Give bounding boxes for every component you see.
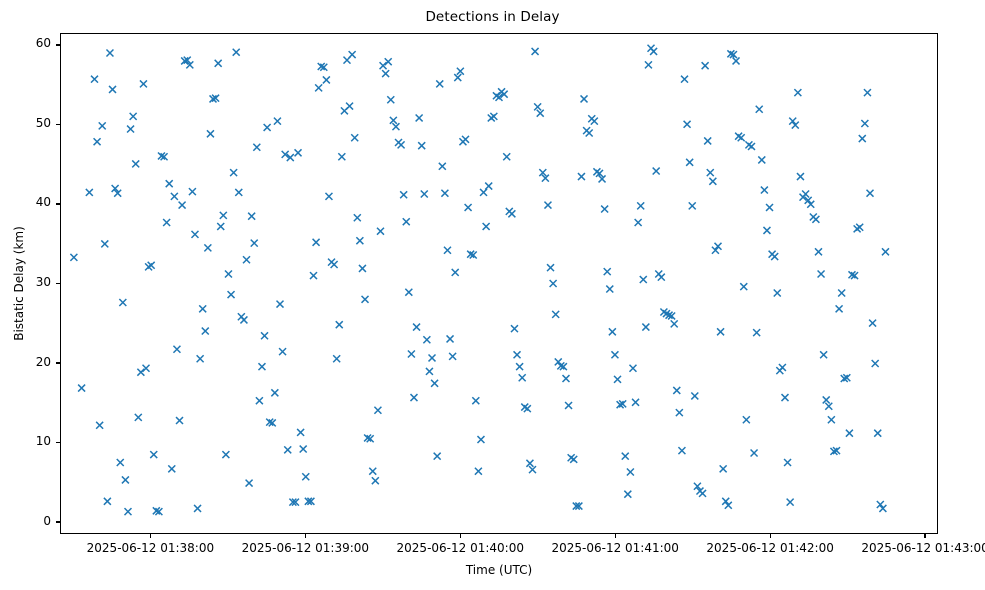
scatter-point bbox=[284, 446, 291, 453]
scatter-point bbox=[258, 363, 265, 370]
scatter-point bbox=[297, 429, 304, 436]
scatter-point bbox=[86, 189, 93, 196]
scatter-point bbox=[864, 89, 871, 96]
scatter-point bbox=[117, 459, 124, 466]
y-tick-mark bbox=[56, 442, 60, 443]
scatter-point bbox=[457, 68, 464, 75]
scatter-point bbox=[369, 468, 376, 475]
scatter-point bbox=[565, 402, 572, 409]
scatter-point bbox=[300, 446, 307, 453]
scatter-point bbox=[302, 473, 309, 480]
scatter-point bbox=[400, 191, 407, 198]
scatter-point bbox=[148, 262, 155, 269]
scatter-point bbox=[429, 354, 436, 361]
scatter-point bbox=[106, 50, 113, 57]
scatter-point bbox=[410, 394, 417, 401]
scatter-point bbox=[356, 237, 363, 244]
scatter-point bbox=[733, 57, 740, 64]
scatter-point bbox=[416, 114, 423, 121]
scatter-point bbox=[684, 121, 691, 128]
scatter-point bbox=[717, 328, 724, 335]
scatter-point bbox=[485, 183, 492, 190]
scatter-point bbox=[691, 392, 698, 399]
scatter-point bbox=[483, 223, 490, 230]
scatter-point bbox=[277, 301, 284, 308]
scatter-point bbox=[421, 191, 428, 198]
scatter-point bbox=[761, 187, 768, 194]
scatter-point bbox=[385, 58, 392, 65]
scatter-point bbox=[797, 173, 804, 180]
scatter-point bbox=[867, 190, 874, 197]
y-tick-label: 10 bbox=[36, 434, 51, 448]
scatter-point bbox=[408, 351, 415, 358]
scatter-point bbox=[758, 156, 765, 163]
scatter-point bbox=[207, 130, 214, 137]
scatter-series bbox=[70, 45, 889, 515]
scatter-point bbox=[604, 268, 611, 275]
scatter-point bbox=[673, 387, 680, 394]
scatter-point bbox=[439, 163, 446, 170]
scatter-point bbox=[452, 269, 459, 276]
x-tick-label: 2025-06-12 01:42:00 bbox=[706, 541, 833, 555]
scatter-point bbox=[601, 206, 608, 213]
scatter-point bbox=[228, 291, 235, 298]
y-tick-mark bbox=[56, 521, 60, 522]
scatter-point bbox=[882, 248, 889, 255]
scatter-point bbox=[766, 204, 773, 211]
y-tick-label: 50 bbox=[36, 116, 51, 130]
scatter-point bbox=[748, 143, 755, 150]
scatter-point bbox=[774, 290, 781, 297]
scatter-point bbox=[823, 396, 830, 403]
scatter-point bbox=[526, 460, 533, 467]
scatter-point bbox=[248, 213, 255, 220]
scatter-point bbox=[434, 453, 441, 460]
scatter-point bbox=[119, 299, 126, 306]
scatter-point bbox=[635, 219, 642, 226]
x-tick-mark bbox=[150, 534, 151, 538]
scatter-point bbox=[171, 193, 178, 200]
y-tick-mark bbox=[56, 362, 60, 363]
scatter-point bbox=[122, 476, 129, 483]
scatter-point bbox=[202, 328, 209, 335]
scatter-point bbox=[70, 254, 77, 261]
scatter-point bbox=[390, 117, 397, 124]
scatter-point bbox=[784, 459, 791, 466]
scatter-point bbox=[614, 376, 621, 383]
matplotlib-figure: Detections in Delay 0102030405060 2025-0… bbox=[0, 0, 985, 590]
scatter-point bbox=[217, 223, 224, 230]
scatter-point bbox=[707, 169, 714, 176]
scatter-point bbox=[233, 49, 240, 56]
scatter-point bbox=[256, 397, 263, 404]
scatter-point bbox=[771, 253, 778, 260]
scatter-point bbox=[104, 498, 111, 505]
scatter-point bbox=[519, 374, 526, 381]
scatter-point bbox=[532, 48, 539, 55]
scatter-point bbox=[537, 110, 544, 117]
scatter-point bbox=[204, 244, 211, 251]
scatter-point bbox=[124, 508, 131, 515]
scatter-point bbox=[135, 414, 142, 421]
x-tick-label: 2025-06-12 01:39:00 bbox=[242, 541, 369, 555]
scatter-point bbox=[869, 320, 876, 327]
scatter-point bbox=[173, 346, 180, 353]
scatter-point bbox=[743, 416, 750, 423]
scatter-point bbox=[359, 265, 366, 272]
scatter-point bbox=[295, 149, 302, 156]
scatter-point bbox=[475, 468, 482, 475]
scatter-point bbox=[246, 480, 253, 487]
scatter-point bbox=[78, 385, 85, 392]
scatter-point bbox=[678, 447, 685, 454]
scatter-point bbox=[581, 95, 588, 102]
chart-title: Detections in Delay bbox=[0, 9, 985, 25]
scatter-point bbox=[380, 62, 387, 69]
scatter-point bbox=[642, 324, 649, 331]
scatter-point bbox=[310, 272, 317, 279]
scatter-point bbox=[820, 351, 827, 358]
scatter-point bbox=[449, 353, 456, 360]
scatter-point bbox=[547, 264, 554, 271]
scatter-point bbox=[653, 168, 660, 175]
scatter-point bbox=[751, 450, 758, 457]
scatter-point bbox=[351, 134, 358, 141]
scatter-point bbox=[354, 214, 361, 221]
scatter-point bbox=[225, 271, 232, 278]
scatter-point bbox=[199, 305, 206, 312]
scatter-point bbox=[645, 61, 652, 68]
scatter-point bbox=[403, 218, 410, 225]
scatter-point bbox=[753, 329, 760, 336]
scatter-point bbox=[235, 189, 242, 196]
scatter-point bbox=[220, 212, 227, 219]
scatter-point bbox=[779, 364, 786, 371]
scatter-point bbox=[872, 360, 879, 367]
scatter-point bbox=[529, 466, 536, 473]
scatter-point bbox=[215, 60, 222, 67]
scatter-point bbox=[454, 74, 461, 81]
scatter-point bbox=[405, 289, 412, 296]
scatter-point bbox=[627, 469, 634, 476]
scatter-point bbox=[552, 311, 559, 318]
scatter-point bbox=[362, 296, 369, 303]
scatter-point bbox=[503, 153, 510, 160]
scatter-point bbox=[490, 113, 497, 120]
scatter-point bbox=[96, 422, 103, 429]
scatter-point bbox=[828, 416, 835, 423]
scatter-point bbox=[323, 76, 330, 83]
x-tick-label: 2025-06-12 01:41:00 bbox=[551, 541, 678, 555]
scatter-point bbox=[325, 193, 332, 200]
scatter-point bbox=[861, 120, 868, 127]
scatter-point bbox=[836, 305, 843, 312]
scatter-point bbox=[315, 84, 322, 91]
scatter-point bbox=[240, 316, 247, 323]
scatter-point bbox=[166, 180, 173, 187]
scatter-point bbox=[812, 216, 819, 223]
scatter-point bbox=[825, 403, 832, 410]
scatter-point bbox=[570, 456, 577, 463]
scatter-point bbox=[818, 271, 825, 278]
scatter-point bbox=[423, 336, 430, 343]
scatter-point bbox=[815, 248, 822, 255]
scatter-point bbox=[372, 477, 379, 484]
scatter-point bbox=[756, 106, 763, 113]
scatter-point bbox=[874, 430, 881, 437]
scatter-point bbox=[336, 321, 343, 328]
scatter-point bbox=[622, 453, 629, 460]
scatter-point bbox=[606, 286, 613, 293]
scatter-point bbox=[508, 210, 515, 217]
scatter-point bbox=[137, 369, 144, 376]
y-tick-mark bbox=[56, 44, 60, 45]
y-axis-label: Bistatic Delay (km) bbox=[12, 33, 30, 534]
scatter-point bbox=[462, 136, 469, 143]
scatter-point bbox=[611, 351, 618, 358]
scatter-points-layer bbox=[61, 34, 937, 533]
y-tick-label: 30 bbox=[36, 275, 51, 289]
x-tick-label: 2025-06-12 01:38:00 bbox=[87, 541, 214, 555]
scatter-point bbox=[477, 436, 484, 443]
scatter-point bbox=[740, 283, 747, 290]
scatter-point bbox=[392, 123, 399, 130]
scatter-point bbox=[197, 355, 204, 362]
scatter-point bbox=[681, 76, 688, 83]
scatter-point bbox=[794, 89, 801, 96]
scatter-point bbox=[331, 261, 338, 268]
scatter-point bbox=[243, 256, 250, 263]
scatter-point bbox=[150, 451, 157, 458]
scatter-point bbox=[444, 247, 451, 254]
plot-axes-area bbox=[60, 33, 938, 534]
scatter-point bbox=[132, 160, 139, 167]
scatter-point bbox=[194, 505, 201, 512]
scatter-point bbox=[222, 451, 229, 458]
scatter-point bbox=[251, 240, 258, 247]
scatter-point bbox=[650, 48, 657, 55]
y-tick-mark bbox=[56, 283, 60, 284]
scatter-point bbox=[413, 324, 420, 331]
scatter-point bbox=[431, 380, 438, 387]
y-tick-mark bbox=[56, 203, 60, 204]
scatter-point bbox=[511, 325, 518, 332]
scatter-point bbox=[441, 190, 448, 197]
y-tick-label: 40 bbox=[36, 195, 51, 209]
scatter-point bbox=[418, 142, 425, 149]
scatter-point bbox=[377, 228, 384, 235]
scatter-point bbox=[658, 274, 665, 281]
scatter-point bbox=[699, 490, 706, 497]
scatter-point bbox=[91, 76, 98, 83]
scatter-point bbox=[253, 144, 260, 151]
scatter-point bbox=[374, 407, 381, 414]
scatter-point bbox=[702, 62, 709, 69]
scatter-point bbox=[143, 365, 150, 372]
scatter-point bbox=[763, 227, 770, 234]
scatter-point bbox=[191, 231, 198, 238]
scatter-point bbox=[859, 135, 866, 142]
scatter-point bbox=[562, 375, 569, 382]
scatter-point bbox=[586, 130, 593, 137]
scatter-point bbox=[436, 80, 443, 87]
scatter-point bbox=[313, 239, 320, 246]
scatter-point bbox=[465, 204, 472, 211]
scatter-point bbox=[382, 70, 389, 77]
scatter-point bbox=[676, 409, 683, 416]
scatter-point bbox=[333, 355, 340, 362]
x-tick-mark bbox=[460, 534, 461, 538]
scatter-point bbox=[534, 103, 541, 110]
scatter-point bbox=[130, 113, 137, 120]
scatter-point bbox=[544, 202, 551, 209]
scatter-point bbox=[846, 430, 853, 437]
scatter-point bbox=[704, 137, 711, 144]
scatter-point bbox=[230, 169, 237, 176]
scatter-point bbox=[609, 328, 616, 335]
scatter-point bbox=[856, 224, 863, 231]
scatter-point bbox=[264, 124, 271, 131]
scatter-point bbox=[671, 320, 678, 327]
scatter-point bbox=[346, 103, 353, 110]
x-tick-label: 2025-06-12 01:40:00 bbox=[397, 541, 524, 555]
scatter-point bbox=[516, 363, 523, 370]
y-tick-label: 20 bbox=[36, 355, 51, 369]
scatter-point bbox=[787, 499, 794, 506]
scatter-point bbox=[472, 397, 479, 404]
scatter-point bbox=[109, 86, 116, 93]
scatter-point bbox=[274, 118, 281, 125]
x-tick-label: 2025-06-12 01:43:00 bbox=[861, 541, 985, 555]
y-tick-label: 60 bbox=[36, 36, 51, 50]
scatter-point bbox=[179, 202, 186, 209]
scatter-point bbox=[720, 465, 727, 472]
y-tick-label: 0 bbox=[43, 514, 51, 528]
scatter-point bbox=[387, 96, 394, 103]
scatter-point bbox=[738, 134, 745, 141]
scatter-point bbox=[261, 332, 268, 339]
scatter-point bbox=[271, 389, 278, 396]
scatter-point bbox=[99, 122, 106, 129]
scatter-point bbox=[578, 173, 585, 180]
scatter-point bbox=[524, 405, 531, 412]
scatter-point bbox=[480, 189, 487, 196]
scatter-point bbox=[637, 202, 644, 209]
x-tick-mark bbox=[615, 534, 616, 538]
scatter-point bbox=[279, 348, 286, 355]
scatter-point bbox=[189, 188, 196, 195]
scatter-point bbox=[640, 276, 647, 283]
scatter-point bbox=[632, 399, 639, 406]
scatter-point bbox=[591, 118, 598, 125]
scatter-point bbox=[709, 178, 716, 185]
scatter-point bbox=[426, 368, 433, 375]
scatter-point bbox=[176, 417, 183, 424]
scatter-point bbox=[140, 80, 147, 87]
scatter-point bbox=[163, 219, 170, 226]
scatter-point bbox=[168, 465, 175, 472]
scatter-point bbox=[101, 240, 108, 247]
y-tick-mark bbox=[56, 124, 60, 125]
scatter-point bbox=[838, 290, 845, 297]
scatter-point bbox=[514, 351, 521, 358]
scatter-point bbox=[781, 394, 788, 401]
scatter-point bbox=[447, 335, 454, 342]
scatter-point bbox=[550, 280, 557, 287]
x-tick-mark bbox=[770, 534, 771, 538]
scatter-point bbox=[689, 202, 696, 209]
scatter-point bbox=[802, 191, 809, 198]
x-tick-mark bbox=[924, 534, 925, 538]
x-axis-label: Time (UTC) bbox=[60, 563, 938, 577]
scatter-point bbox=[338, 153, 345, 160]
scatter-point bbox=[624, 491, 631, 498]
scatter-point bbox=[686, 159, 693, 166]
scatter-point bbox=[349, 51, 356, 58]
scatter-point bbox=[398, 141, 405, 148]
scatter-point bbox=[629, 365, 636, 372]
scatter-point bbox=[94, 138, 101, 145]
scatter-point bbox=[127, 126, 134, 133]
x-tick-mark bbox=[305, 534, 306, 538]
